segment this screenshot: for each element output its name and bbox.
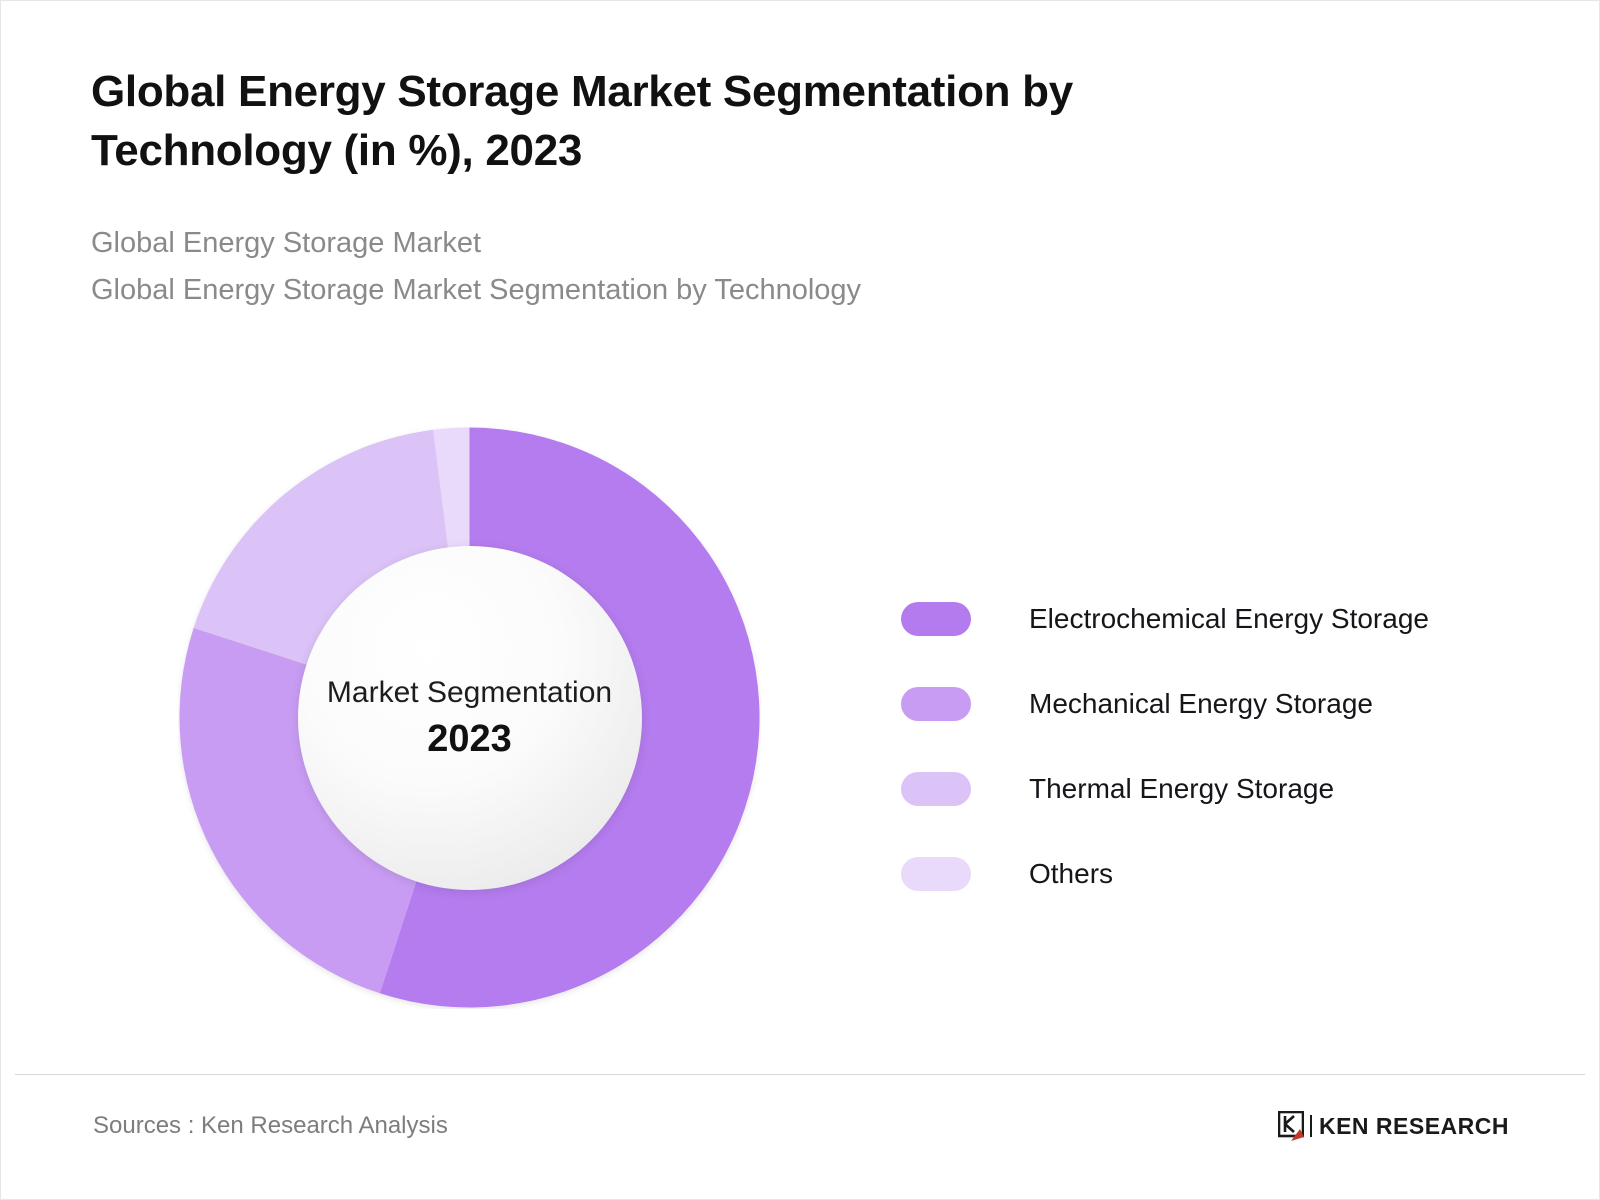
brand-divider [1310,1115,1312,1137]
legend-item[interactable]: Mechanical Energy Storage [901,661,1429,746]
legend-item-label: Electrochemical Energy Storage [1029,603,1429,635]
footer-divider [15,1074,1585,1075]
subtitle-line-1: Global Energy Storage Market [91,220,1291,267]
legend-swatch-icon [901,772,971,806]
legend-swatch-icon [901,687,971,721]
legend-item[interactable]: Electrochemical Energy Storage [901,576,1429,661]
source-note: Sources : Ken Research Analysis [93,1112,448,1140]
subtitle-block: Global Energy Storage Market Global Ener… [91,220,1291,314]
donut-chart: Electrochemical Energy Storage 55%Mechan… [178,426,761,1009]
legend-item-label: Thermal Energy Storage [1029,773,1334,805]
brand-name: KEN RESEARCH [1319,1113,1509,1140]
legend-swatch-icon [901,857,971,891]
chart-page: Global Energy Storage Market Segmentatio… [0,0,1600,1200]
footer: Sources : Ken Research Analysis KEN RESE… [1,1091,1600,1161]
legend-swatch-icon [901,602,971,636]
donut-center-value: 2023 [427,719,512,761]
legend-item-label: Others [1029,858,1113,890]
donut-center: Market Segmentation 2023 [298,546,642,890]
header: Global Energy Storage Market Segmentatio… [91,63,1291,314]
subtitle-line-2: Global Energy Storage Market Segmentatio… [91,267,1291,314]
legend-item-label: Mechanical Energy Storage [1029,688,1373,720]
page-title: Global Energy Storage Market Segmentatio… [91,63,1251,180]
donut-center-label: Market Segmentation [327,675,612,711]
brand-logo: KEN RESEARCH [1278,1111,1509,1141]
legend-item[interactable]: Thermal Energy Storage [901,746,1429,831]
chart-legend: Electrochemical Energy StorageMechanical… [901,576,1429,916]
chart-area: Electrochemical Energy Storage 55%Mechan… [1,401,1600,1041]
legend-item[interactable]: Others [901,831,1429,916]
ken-research-logo-icon [1278,1111,1304,1141]
